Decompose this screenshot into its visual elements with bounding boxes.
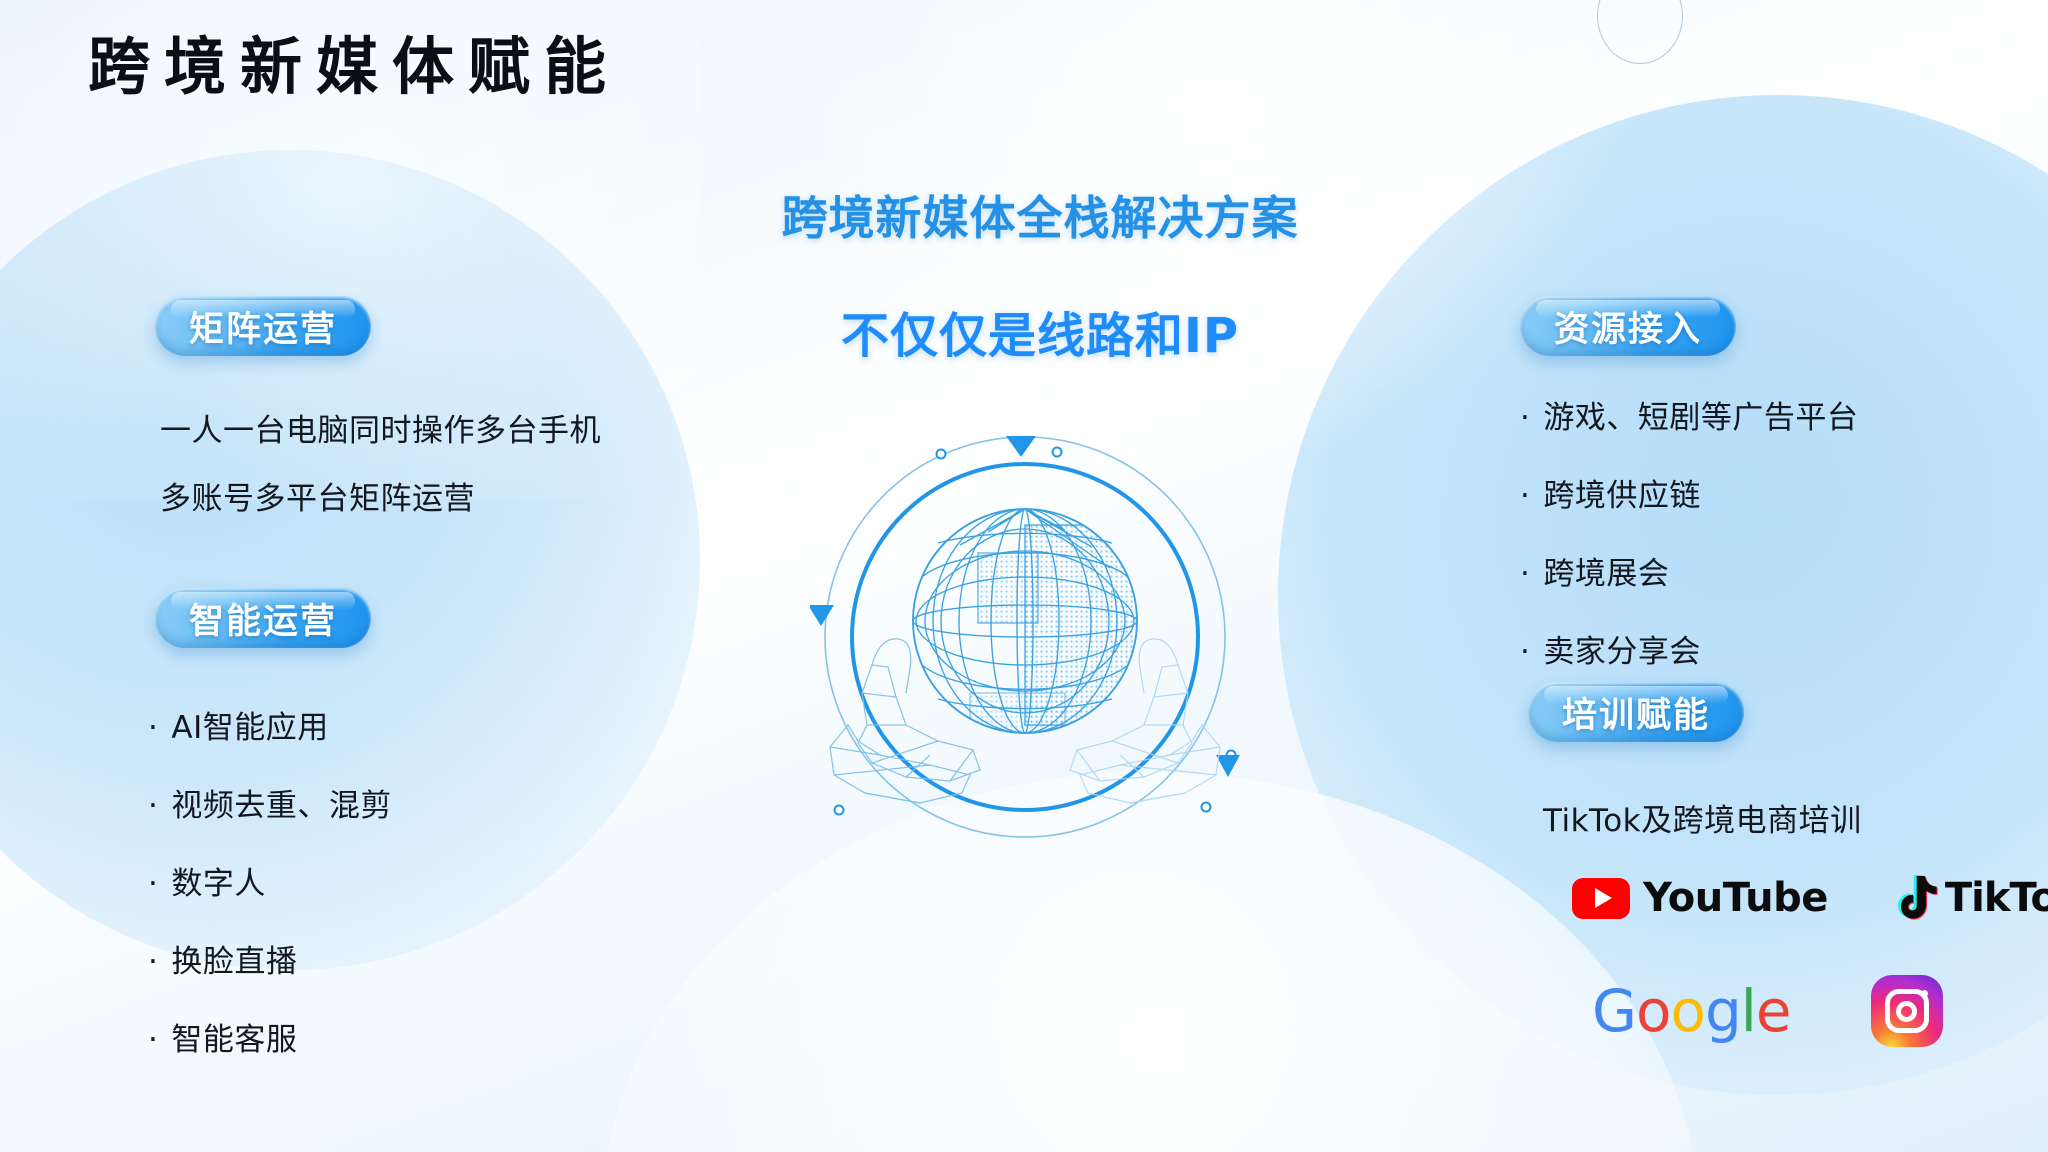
bullet-icon: · (148, 1025, 158, 1056)
list-item-label: 卖家分享会 (1543, 626, 1701, 671)
list-item-label: 换脸直播 (171, 936, 297, 981)
tiktok-logo[interactable]: TikTok (1898, 875, 2048, 921)
right-bullet-list: · 游戏、短剧等广告平台 · 跨境供应链 · 跨境展会 · 卖家分享会 (1520, 392, 1858, 704)
list-item-label: AI智能应用 (171, 702, 328, 747)
list-item: · 跨境展会 (1520, 548, 1858, 593)
bullet-icon: · (1520, 403, 1530, 434)
bullet-icon: · (148, 791, 158, 822)
badge-training-empowerment[interactable]: 培训赋能 (1528, 682, 1744, 742)
logo-row-bottom: Google (1592, 975, 1943, 1047)
right-text-training: TikTok及跨境电商培训 (1543, 795, 1862, 840)
center-heading-block: 跨境新媒体全栈解决方案 不仅仅是线路和IP (660, 182, 1420, 366)
slide-canvas: 跨境新媒体赋能 跨境新媒体全栈解决方案 不仅仅是线路和IP 矩阵运营 一人一台电… (0, 0, 2048, 1152)
list-item-label: 数字人 (171, 858, 266, 903)
badge-resource-access[interactable]: 资源接入 (1520, 296, 1736, 356)
list-item: · 游戏、短剧等广告平台 (1520, 392, 1858, 437)
instagram-flash-dot (1921, 990, 1928, 997)
bullet-icon: · (1520, 559, 1530, 590)
list-item-label: 跨境展会 (1543, 548, 1669, 593)
list-item: · 视频去重、混剪 (148, 780, 392, 825)
left-text-matrix-2: 多账号多平台矩阵运营 (160, 473, 475, 518)
center-heading-line-2: 不仅仅是线路和IP (660, 296, 1420, 366)
list-item: · AI智能应用 (148, 702, 392, 747)
list-item: · 换脸直播 (148, 936, 392, 981)
bullet-icon: · (148, 947, 158, 978)
list-item: · 数字人 (148, 858, 392, 903)
badge-matrix-operations[interactable]: 矩阵运营 (155, 296, 371, 356)
left-text-matrix-1: 一人一台电脑同时操作多台手机 (160, 405, 601, 450)
youtube-logo[interactable]: YouTube (1572, 875, 1828, 921)
globe-in-hands-graphic (810, 425, 1240, 845)
bullet-icon: · (148, 869, 158, 900)
list-item-label: 跨境供应链 (1543, 470, 1701, 515)
badge-smart-operations[interactable]: 智能运营 (155, 588, 371, 648)
page-title: 跨境新媒体赋能 (88, 36, 620, 98)
list-item-label: 游戏、短剧等广告平台 (1543, 392, 1858, 437)
list-item: · 智能客服 (148, 1014, 392, 1059)
instagram-logo[interactable] (1871, 975, 1943, 1047)
list-item: · 卖家分享会 (1520, 626, 1858, 671)
left-bullet-list: · AI智能应用 · 视频去重、混剪 · 数字人 · 换脸直播 · 智能客服 (148, 702, 392, 1092)
youtube-play-icon (1572, 878, 1630, 919)
bullet-icon: · (1520, 481, 1530, 512)
list-item: · 跨境供应链 (1520, 470, 1858, 515)
list-item-label: 智能客服 (171, 1014, 297, 1059)
center-heading-line-1: 跨境新媒体全栈解决方案 (660, 182, 1420, 248)
globe-illustration (810, 425, 1240, 845)
decorative-circle-outline (1597, 0, 1683, 64)
logo-row-top: YouTube TikTok (1572, 875, 2048, 921)
bullet-icon: · (1520, 637, 1530, 668)
google-logo[interactable]: Google (1592, 982, 1791, 1040)
tiktok-note-icon (1898, 875, 1938, 921)
tiktok-wordmark: TikTok (1945, 875, 2048, 921)
list-item-label: 视频去重、混剪 (171, 780, 392, 825)
bullet-icon: · (148, 713, 158, 744)
youtube-wordmark: YouTube (1643, 875, 1828, 921)
